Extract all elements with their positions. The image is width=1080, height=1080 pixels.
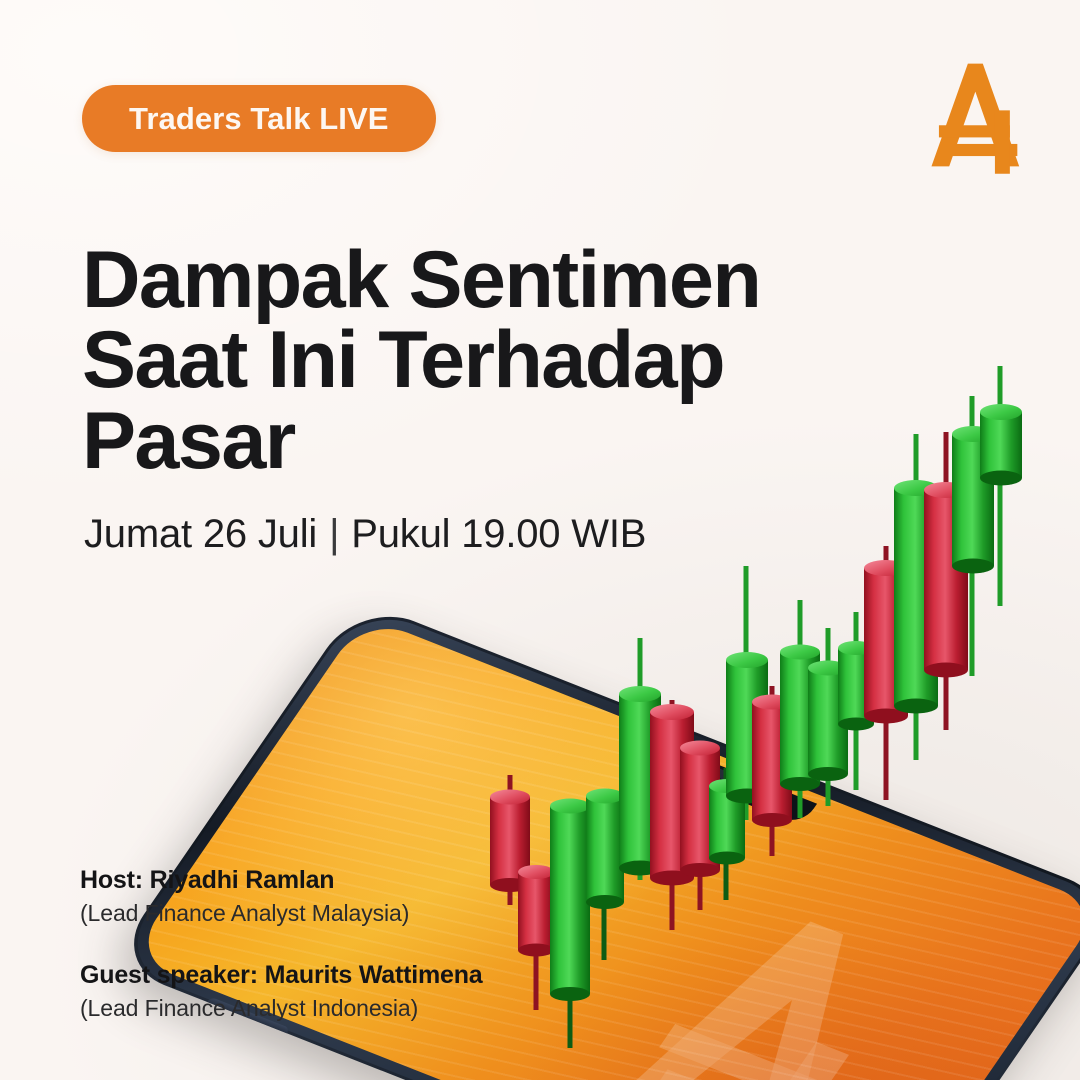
candle-2 bbox=[518, 865, 554, 957]
speaker-credits: Host: Riyadhi Ramlan (Lead Finance Analy… bbox=[80, 866, 483, 1022]
phone-earpiece-speaker bbox=[682, 756, 767, 795]
schedule-separator: | bbox=[329, 512, 339, 557]
candle-14 bbox=[864, 560, 908, 724]
candle-15 bbox=[894, 480, 938, 714]
schedule-date: Jumat 26 Juli bbox=[84, 512, 317, 556]
candle-9 bbox=[726, 652, 768, 804]
candle-3 bbox=[550, 799, 590, 1002]
brand-a-logo-icon bbox=[924, 56, 1036, 174]
schedule-time: Pukul 19.00 WIB bbox=[351, 512, 646, 556]
screen-watermark-a-logo-icon bbox=[540, 846, 1021, 1080]
headline-line-2: Saat Ini Terhadap bbox=[82, 320, 842, 400]
candle-16 bbox=[924, 482, 968, 678]
page-title: Dampak Sentimen Saat Ini Terhadap Pasar bbox=[82, 240, 842, 481]
candle-7 bbox=[680, 741, 720, 878]
guest-credit: Guest speaker: Maurits Wattimena (Lead F… bbox=[80, 961, 483, 1022]
guest-name: Guest speaker: Maurits Wattimena bbox=[80, 961, 483, 990]
headline-line-1: Dampak Sentimen bbox=[82, 240, 842, 320]
host-name: Host: Riyadhi Ramlan bbox=[80, 866, 483, 895]
headline-line-3: Pasar bbox=[82, 401, 842, 481]
guest-role: (Lead Finance Analyst Indonesia) bbox=[80, 995, 483, 1022]
schedule-line: Jumat 26 Juli|Pukul 19.00 WIB bbox=[84, 512, 646, 557]
host-role: (Lead Finance Analyst Malaysia) bbox=[80, 900, 483, 927]
candle-18 bbox=[980, 404, 1022, 486]
phone-notch bbox=[625, 734, 817, 826]
candle-6 bbox=[650, 704, 694, 886]
candle-8 bbox=[709, 779, 745, 865]
candle-4 bbox=[586, 789, 624, 910]
candle-11 bbox=[780, 645, 820, 792]
candle-13 bbox=[838, 641, 874, 731]
live-session-badge[interactable]: Traders Talk LIVE bbox=[82, 85, 436, 152]
poster-canvas: Traders Talk LIVE Dampak Sentimen Saat I… bbox=[0, 0, 1080, 1080]
candle-5 bbox=[619, 686, 661, 876]
candle-17 bbox=[952, 426, 994, 574]
candle-12 bbox=[808, 661, 848, 782]
candle-1 bbox=[490, 790, 530, 893]
host-credit: Host: Riyadhi Ramlan (Lead Finance Analy… bbox=[80, 866, 483, 927]
candle-10 bbox=[752, 695, 792, 828]
